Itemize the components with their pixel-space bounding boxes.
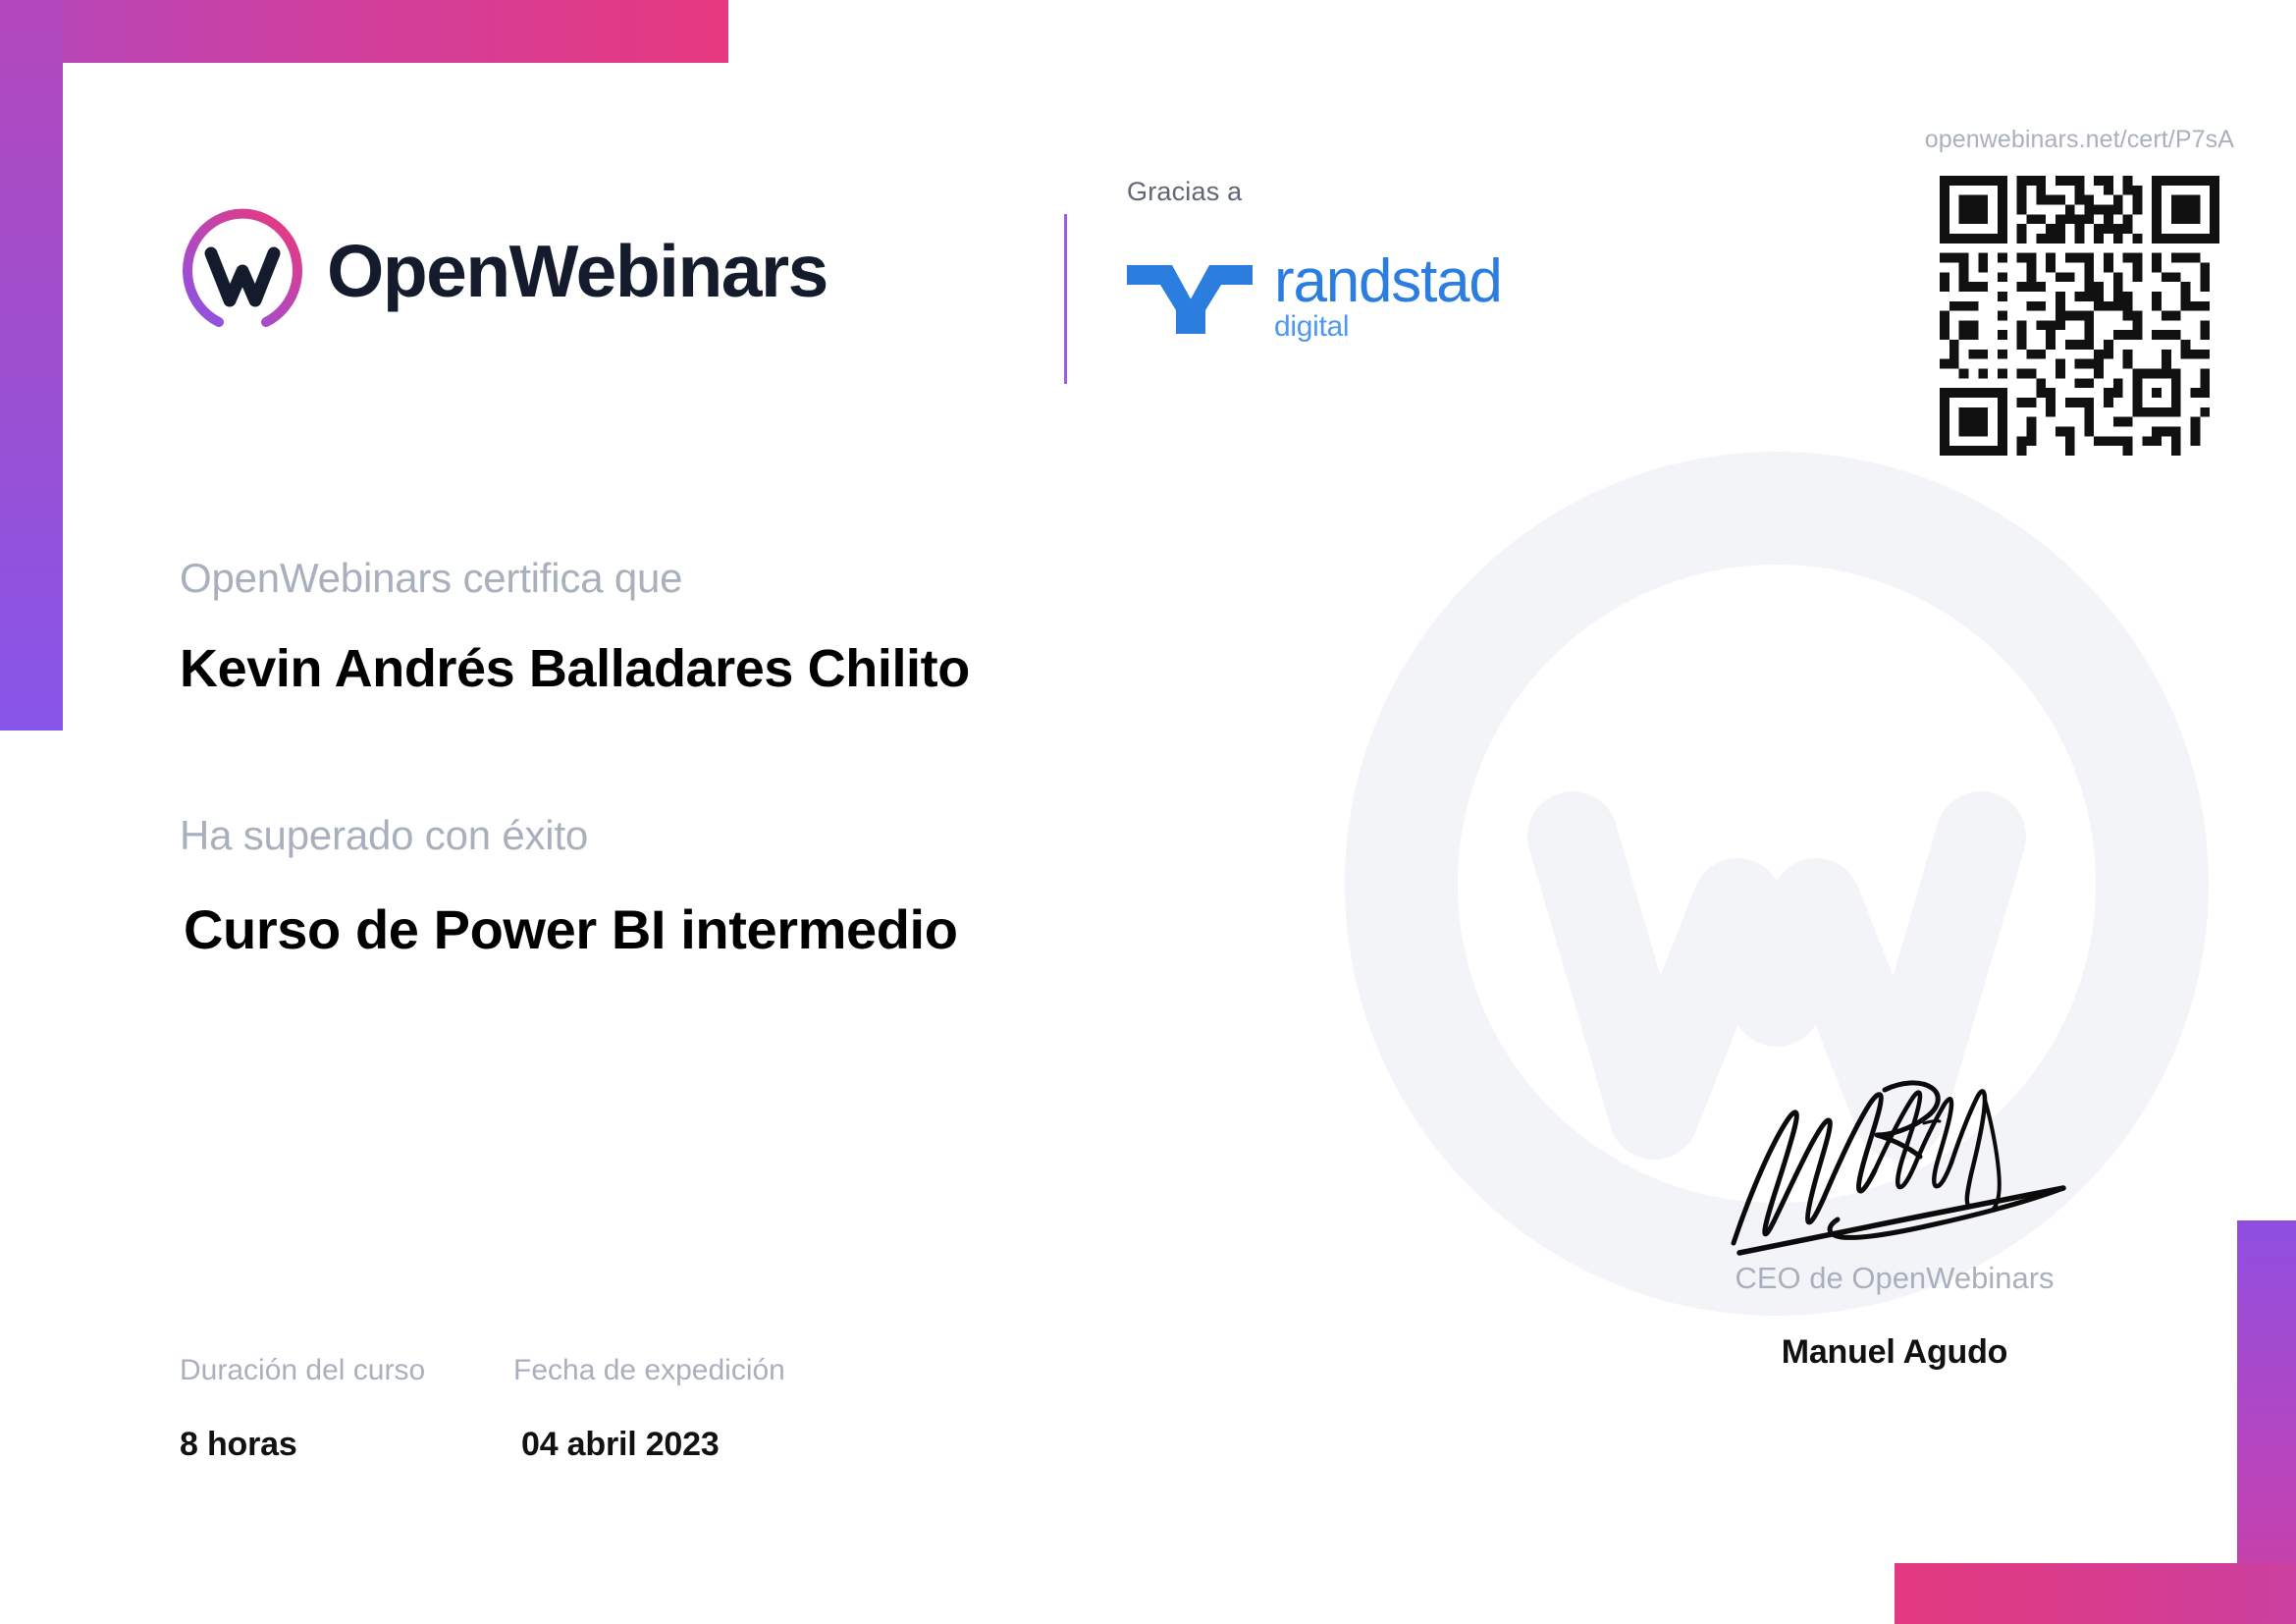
randstad-name: randstad: [1274, 253, 1502, 311]
date-column: Fecha de expedición 04 abril 2023: [513, 1353, 785, 1465]
randstad-subname: digital: [1274, 312, 1502, 342]
certificate-meta: Duración del curso 8 horas Fecha de expe…: [180, 1353, 785, 1465]
duration-label: Duración del curso: [180, 1353, 513, 1388]
completed-label: Ha superado con éxito: [180, 812, 970, 859]
duration-value: 8 horas: [180, 1425, 513, 1465]
duration-column: Duración del curso 8 horas: [180, 1353, 513, 1465]
date-label: Fecha de expedición: [513, 1353, 785, 1388]
openwebinars-logo: OpenWebinars: [180, 208, 828, 334]
certificate-body: OpenWebinars certifica que Kevin Andrés …: [180, 555, 970, 961]
randstad-arrow-icon: [1127, 261, 1253, 334]
certificate-header: OpenWebinars Gracias a randstad digital …: [0, 0, 2296, 471]
course-title: Curso de Power BI intermedio: [184, 898, 970, 961]
randstad-logo: randstad digital: [1127, 253, 1502, 342]
randstad-name-group: randstad digital: [1274, 253, 1502, 342]
handwritten-signature-icon: [1698, 1060, 2091, 1257]
signature-block: CEO de OpenWebinars Manuel Agudo: [1659, 1060, 2130, 1372]
date-value: 04 abril 2023: [521, 1425, 785, 1465]
signature-name: Manuel Agudo: [1659, 1333, 2130, 1372]
qr-code-icon[interactable]: [1940, 176, 2219, 456]
corner-accent-bottom-right-horizontal: [1895, 1563, 2296, 1624]
vertical-divider: [1064, 214, 1067, 384]
certifies-label: OpenWebinars certifica que: [180, 555, 970, 602]
openwebinars-wordmark: OpenWebinars: [327, 235, 828, 308]
recipient-name: Kevin Andrés Balladares Chilito: [180, 638, 970, 699]
signature-role: CEO de OpenWebinars: [1659, 1261, 2130, 1296]
verification-url: openwebinars.net/cert/P7sA: [1925, 126, 2234, 154]
partner-thanks-label: Gracias a: [1127, 177, 1242, 207]
openwebinars-ring-w-icon: [180, 208, 305, 334]
verification-block: openwebinars.net/cert/P7sA: [1925, 126, 2234, 456]
certificate-page: OpenWebinars Gracias a randstad digital …: [0, 0, 2296, 1624]
